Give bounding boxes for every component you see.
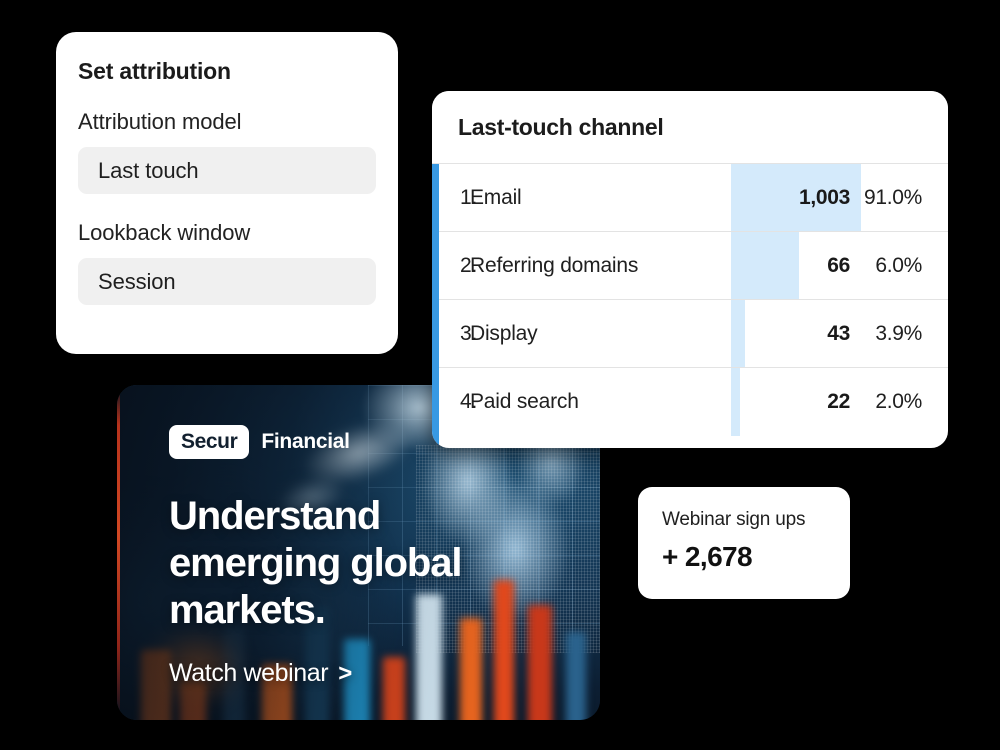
row-percent: 6.0% xyxy=(850,254,948,278)
row-value: 43 xyxy=(732,322,850,346)
webinar-card-body: Webinar sign ups + 2,678 xyxy=(638,487,850,573)
last-touch-channel-card: Last-touch channel 1. Email 1,003 91.0% … xyxy=(432,91,948,448)
row-channel-name: Email xyxy=(470,186,732,210)
row-channel-name: Paid search xyxy=(470,390,732,414)
attribution-model-select[interactable]: Last touch xyxy=(78,147,376,194)
watch-webinar-link[interactable]: Watch webinar > xyxy=(169,659,352,688)
set-attribution-card: Set attribution Attribution model Last t… xyxy=(56,32,398,354)
chevron-right-icon: > xyxy=(338,660,352,688)
row-percent: 2.0% xyxy=(850,390,948,414)
row-percent: 91.0% xyxy=(850,186,948,210)
channel-card-title: Last-touch channel xyxy=(458,114,663,141)
brand-name-text: Financial xyxy=(261,430,349,454)
webinar-signups-card: Webinar sign ups + 2,678 xyxy=(638,487,850,599)
row-percent: 3.9% xyxy=(850,322,948,346)
row-channel-name: Referring domains xyxy=(470,254,732,278)
webinar-signups-value: + 2,678 xyxy=(662,541,850,573)
row-value: 22 xyxy=(732,390,850,414)
row-value: 1,003 xyxy=(732,186,850,210)
webinar-signups-label: Webinar sign ups xyxy=(662,509,850,531)
attribution-model-label: Attribution model xyxy=(78,109,376,135)
table-row[interactable]: 3. Display 43 3.9% xyxy=(432,300,948,368)
row-channel-name: Display xyxy=(470,322,732,346)
attribution-card-body: Set attribution Attribution model Last t… xyxy=(56,32,398,327)
brand-logo-mark: Secur xyxy=(169,425,249,459)
channel-card-header: Last-touch channel xyxy=(432,91,948,163)
watch-webinar-label: Watch webinar xyxy=(169,659,328,688)
table-row[interactable]: 1. Email 1,003 91.0% xyxy=(432,164,948,232)
table-row[interactable]: 4. Paid search 22 2.0% xyxy=(432,368,948,436)
attribution-card-title: Set attribution xyxy=(78,58,376,85)
page-background: Set attribution Attribution model Last t… xyxy=(0,0,1000,750)
channel-table: 1. Email 1,003 91.0% 2. Referring domain… xyxy=(432,163,948,448)
table-row[interactable]: 2. Referring domains 66 6.0% xyxy=(432,232,948,300)
banner-headline: Understand emerging global markets. xyxy=(169,493,519,633)
row-value: 66 xyxy=(732,254,850,278)
table-accent-bar xyxy=(432,164,439,448)
lookback-window-select[interactable]: Session xyxy=(78,258,376,305)
lookback-window-label: Lookback window xyxy=(78,220,376,246)
